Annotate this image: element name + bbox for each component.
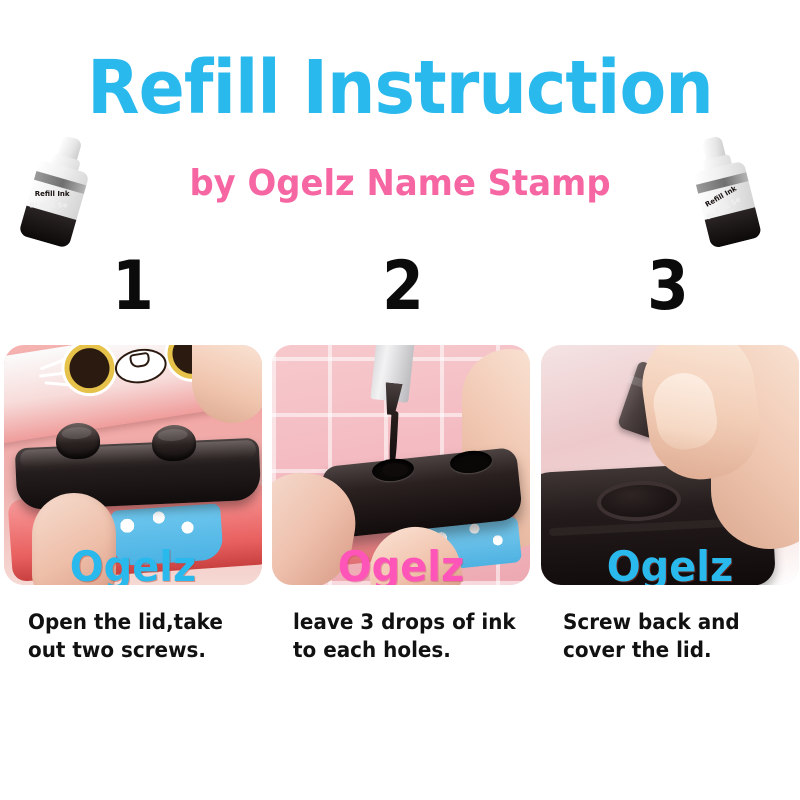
bottle-label-line1: Refill Ink <box>35 190 81 199</box>
step-photo-3-art: Ogelz <box>541 345 799 585</box>
ink-bottle-left-image: Refill Ink BLACK Se <box>9 128 110 252</box>
step-photo-2: Ogelz <box>272 345 530 585</box>
cat-eye-left <box>61 345 118 397</box>
bottle-body: Refill Ink BLACK Se <box>18 159 89 248</box>
step-photo-1-art: Ogelz <box>4 345 262 585</box>
step-number-2: 2 <box>350 252 456 322</box>
page-subtitle: by Ogelz Name Stamp <box>24 163 776 205</box>
step-number-3: 3 <box>615 252 721 322</box>
step-photo-2-art: Ogelz <box>272 345 530 585</box>
step-photo-3: Ogelz <box>541 345 799 585</box>
bottle-ink-fill <box>18 206 76 249</box>
watermark-ogelz: Ogelz <box>278 543 523 585</box>
step-number-1: 1 <box>80 252 186 322</box>
ink-bottle-right-image: Refill Ink BLACK Se <box>676 129 774 252</box>
step-photo-1: Ogelz <box>4 345 262 585</box>
ink-pool <box>382 463 408 477</box>
watermark-ogelz: Ogelz <box>547 543 792 585</box>
instruction-poster: Refill Instruction by Ogelz Name Stamp R… <box>0 0 800 800</box>
bottle-body: Refill Ink BLACK Se <box>693 161 762 249</box>
bottle-label-line2: BLACK Se <box>29 201 79 210</box>
page-title: Refill Instruction <box>32 48 768 128</box>
watermark-ogelz: Ogelz <box>10 543 255 585</box>
step-caption-1: Open the lid,take out two screws. <box>28 608 266 664</box>
step-caption-2: leave 3 drops of ink to each holes. <box>293 608 531 664</box>
step-caption-3: Screw back and cover the lid. <box>563 608 800 664</box>
